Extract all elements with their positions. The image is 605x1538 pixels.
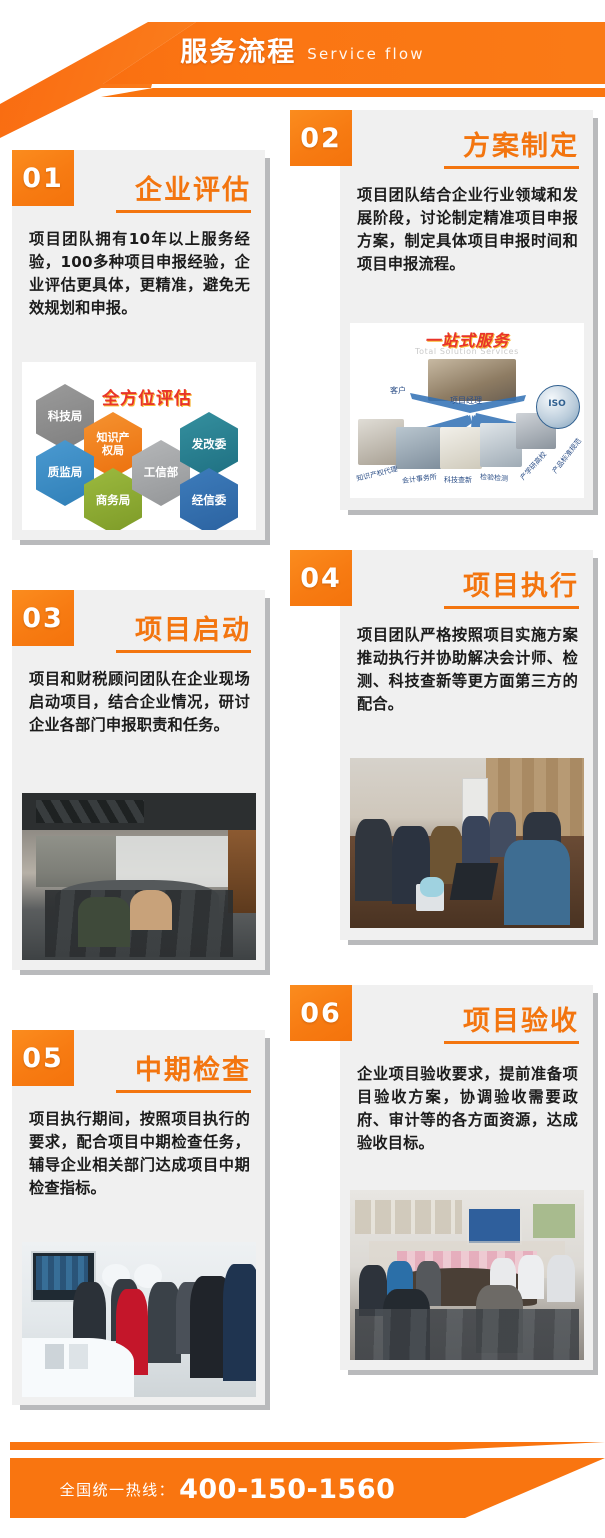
card-02: 方案制定 项目团队结合企业行业领域和发展阶段，讨论制定精准项目申报方案，制定具体…	[340, 110, 593, 510]
card-01-number: 01	[22, 163, 64, 194]
card-04-number-badge: 04	[290, 550, 352, 606]
card-03-body: 项目和财税顾问团队在企业现场启动项目，结合企业情况，研讨企业各部门申报职责和任务…	[29, 668, 250, 737]
hexagon-node-label: 知识产权局	[93, 432, 133, 457]
page-title-cn: 服务流程	[180, 37, 296, 68]
card-02-title: 方案制定	[463, 124, 579, 163]
card-04-title-rule	[444, 606, 579, 609]
hexagon-node-label: 经信委	[192, 494, 227, 507]
card-05: 中期检查 项目执行期间，按照项目执行的要求，配合项目中期检查任务，辅导企业相关部…	[12, 1030, 265, 1405]
card-02-title-rule	[444, 166, 579, 169]
card-03-number-badge: 03	[12, 590, 74, 646]
card-03-number: 03	[22, 603, 64, 634]
card-01-body: 项目团队拥有10年以上服务经验，100多种项目申报经验，企业评估更具体，更精准，…	[29, 228, 250, 320]
page-title-en: Service flow	[307, 45, 425, 63]
hexagon-node-label: 工信部	[144, 466, 179, 479]
card-03-media	[22, 793, 256, 960]
card-01-media: 全方位评估 科技局 知识产权局 质监局 商务局 工信部 发改委	[22, 362, 256, 530]
service-item-label-3: 检验检测	[480, 472, 509, 484]
card-06-media	[350, 1190, 584, 1360]
card-02-media: 一站式服务 Total Solution Services	[350, 323, 584, 498]
page-footer: 全国统一热线：400-150-1560	[0, 1400, 605, 1538]
card-06-number: 06	[300, 998, 342, 1029]
hexagon-node-label: 科技局	[48, 410, 83, 423]
service-item-label-2: 科技查新	[444, 475, 472, 485]
card-05-title: 中期检查	[135, 1048, 251, 1087]
service-label-center: 项目经理	[450, 395, 482, 406]
card-01-title-rule	[116, 210, 251, 213]
service-flow-page: 服务流程Service flow 企业评估 项目团队拥有10年以上服务经验，10…	[0, 0, 605, 1538]
card-05-title-rule	[116, 1090, 251, 1093]
card-05-body: 项目执行期间，按照项目执行的要求，配合项目中期检查任务，辅导企业相关部门达成项目…	[29, 1108, 250, 1200]
hexagon-node-label: 质监局	[48, 466, 83, 479]
card-04-body: 项目团队严格按照项目实施方案推动执行并协助解决会计师、检测、科技查新等更方面第三…	[357, 624, 578, 716]
hexagon-node-label: 发改委	[192, 438, 227, 451]
hexagon-node-label: 商务局	[96, 494, 131, 507]
card-02-number: 02	[300, 123, 342, 154]
card-06-title-rule	[444, 1041, 579, 1044]
page-header: 服务流程Service flow	[0, 0, 605, 116]
card-02-body: 项目团队结合企业行业领域和发展阶段，讨论制定精准项目申报方案，制定具体项目申报时…	[357, 184, 578, 276]
card-06: 项目验收 企业项目验收要求，提前准备项目验收方案，协调验收需要政府、审计等的各方…	[340, 985, 593, 1370]
hexagon-diagram-title: 全方位评估	[102, 384, 192, 409]
page-title: 服务流程Service flow	[0, 30, 605, 69]
service-node-tech-search	[440, 427, 482, 469]
footer-orange-underline	[10, 1442, 605, 1450]
card-01: 企业评估 项目团队拥有10年以上服务经验，100多种项目申报经验，企业评估更具体…	[12, 150, 265, 540]
card-03: 项目启动 项目和财税顾问团队在企业现场启动项目，结合企业情况，研讨企业各部门申报…	[12, 590, 265, 970]
card-05-media	[22, 1242, 256, 1397]
card-02-number-badge: 02	[290, 110, 352, 166]
card-01-title: 企业评估	[135, 168, 251, 207]
service-label-client: 客户	[390, 385, 406, 396]
card-04: 项目执行 项目团队严格按照项目实施方案推动执行并协助解决会计师、检测、科技查新等…	[340, 550, 593, 940]
card-04-title: 项目执行	[463, 564, 579, 603]
card-03-title-rule	[116, 650, 251, 653]
card-03-title: 项目启动	[135, 608, 251, 647]
service-node-accounting	[396, 427, 442, 469]
card-04-number: 04	[300, 563, 342, 594]
footer-hotline: 全国统一热线：400-150-1560	[0, 1474, 455, 1505]
card-04-media	[350, 758, 584, 928]
card-05-number-badge: 05	[12, 1030, 74, 1086]
card-01-number-badge: 01	[12, 150, 74, 206]
footer-hotline-label: 全国统一热线：	[60, 1481, 176, 1499]
card-06-number-badge: 06	[290, 985, 352, 1041]
service-iso-label: ISO	[536, 399, 578, 409]
card-05-number: 05	[22, 1043, 64, 1074]
footer-hotline-number[interactable]: 400-150-1560	[179, 1474, 395, 1505]
card-06-body: 企业项目验收要求，提前准备项目验收方案，协调验收需要政府、审计等的各方面资源，达…	[357, 1063, 578, 1155]
card-06-title: 项目验收	[463, 999, 579, 1038]
